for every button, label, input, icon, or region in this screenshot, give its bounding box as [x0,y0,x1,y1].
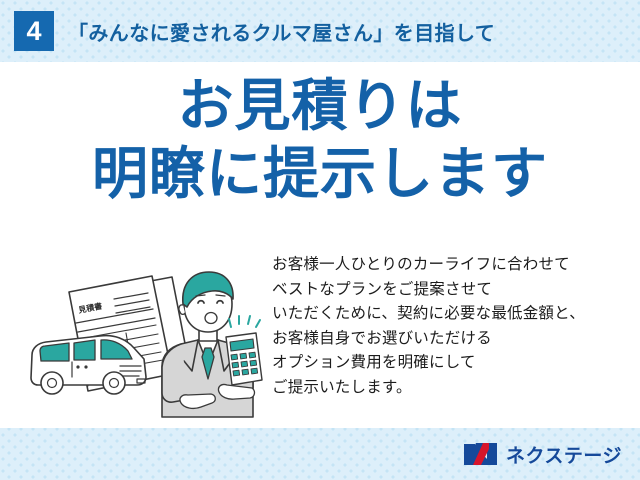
sparkle-icon [229,316,260,327]
promo-banner: 4 「みんなに愛されるクルマ屋さん」を目指して お見積りは 明瞭に提示します お… [0,0,640,480]
body-line-4: お客様自身でお選びいただける [272,327,632,352]
body-line-5: オプション費用を明確にして [272,351,632,376]
brand-logo: ネクステージ [463,441,622,468]
illustration: 見積書 [22,247,274,422]
body-line-3: いただくために、契約に必要な最低金額と、 [272,302,632,327]
headline-line-1: お見積りは [0,76,640,136]
section-number-badge: 4 [14,11,54,51]
body-line-2: ベストなプランをご提案させて [272,278,632,303]
body-paragraph: お客様一人ひとりのカーライフに合わせて ベストなプランをご提案させて いただくた… [272,253,632,400]
body-line-6: ご提示いたします。 [272,376,632,401]
content-panel: お見積りは 明瞭に提示します お客様一人ひとりのカーライフに合わせて ベストなプ… [0,62,640,428]
nextstage-n-logo-icon [463,441,499,467]
brand-logo-text: ネクステージ [506,441,622,468]
headline-line-2: 明瞭に提示します [0,144,640,204]
salesman-illustration-icon: 見積書 [22,247,274,422]
calculator-icon [226,333,262,385]
header-bar: 4 「みんなに愛されるクルマ屋さん」を目指して [0,0,640,62]
footer-bar: ネクステージ [0,428,640,480]
body-line-1: お客様一人ひとりのカーライフに合わせて [272,253,632,278]
header-title: 「みんなに愛されるクルマ屋さん」を目指して [68,17,495,46]
headline: お見積りは 明瞭に提示します [0,76,640,205]
